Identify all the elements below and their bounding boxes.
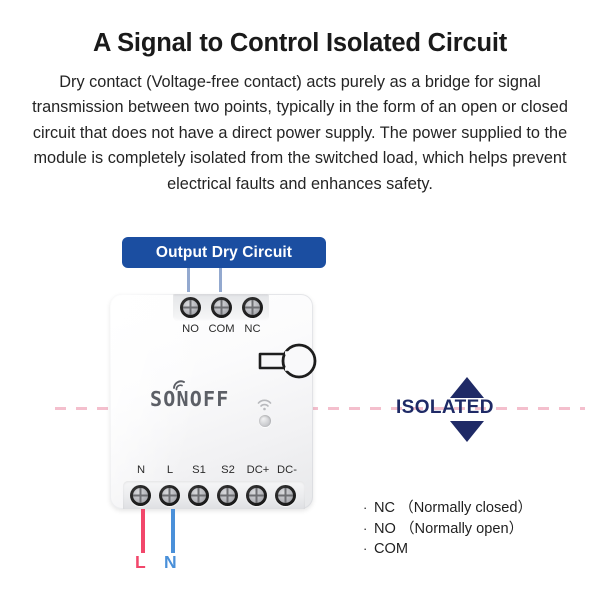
legend-text-com: COM	[374, 540, 408, 560]
legend-text-no: NO （Normally open）	[374, 520, 523, 540]
screw-terminal-s2	[217, 485, 238, 506]
callout-lead-line-com	[219, 268, 222, 292]
output-dry-circuit-callout: Output Dry Circuit	[122, 237, 326, 268]
legend-bullet-icon: ·	[363, 498, 374, 518]
terminal-label-n: N	[127, 464, 155, 476]
terminal-label-l: L	[156, 464, 184, 476]
wire-label-neutral: N	[164, 552, 177, 573]
callout-lead-line-no	[187, 268, 190, 292]
page-root: A Signal to Control Isolated Circuit Dry…	[0, 0, 600, 600]
screw-terminal-dcp	[246, 485, 267, 506]
list-item: · COM	[363, 539, 532, 560]
page-title: A Signal to Control Isolated Circuit	[0, 29, 600, 58]
status-led	[259, 415, 271, 427]
screw-terminal-dcn	[275, 485, 296, 506]
screw-terminal-no	[180, 297, 201, 318]
list-item: · NC （Normally closed）	[363, 498, 532, 519]
legend-text-nc: NC （Normally closed）	[374, 499, 532, 519]
terminal-label-nc: NC	[234, 323, 271, 335]
isolated-label: ISOLATED	[396, 397, 494, 419]
wire-live	[141, 509, 145, 553]
terminal-label-dcp: DC+	[242, 464, 274, 476]
isolated-up-arrow-icon	[450, 377, 484, 398]
screw-terminal-n	[130, 485, 151, 506]
screw-terminal-nc	[242, 297, 263, 318]
callout-label: Output Dry Circuit	[156, 244, 292, 262]
screw-terminal-l	[159, 485, 180, 506]
terminal-label-s2: S2	[214, 464, 242, 476]
legend-bullet-icon: ·	[363, 519, 374, 539]
isolated-down-arrow-icon	[450, 421, 484, 442]
keyhole-cutout-icon	[258, 341, 320, 381]
legend-bullet-icon: ·	[363, 539, 374, 559]
screw-terminal-s1	[188, 485, 209, 506]
wifi-indicator-icon	[257, 398, 272, 410]
description-paragraph: Dry contact (Voltage-free contact) acts …	[28, 70, 572, 197]
sonoff-relay-device: NO COM NC SONOFF	[110, 294, 313, 509]
list-item: · NO （Normally open）	[363, 519, 532, 540]
terminal-label-s1: S1	[185, 464, 213, 476]
wire-neutral	[171, 509, 175, 553]
terminal-label-dcn: DC-	[271, 464, 303, 476]
wire-label-live: L	[135, 552, 146, 573]
sonoff-brand-logo: SONOFF	[150, 387, 229, 411]
screw-terminal-com	[211, 297, 232, 318]
contact-type-legend: · NC （Normally closed） · NO （Normally op…	[363, 498, 532, 560]
